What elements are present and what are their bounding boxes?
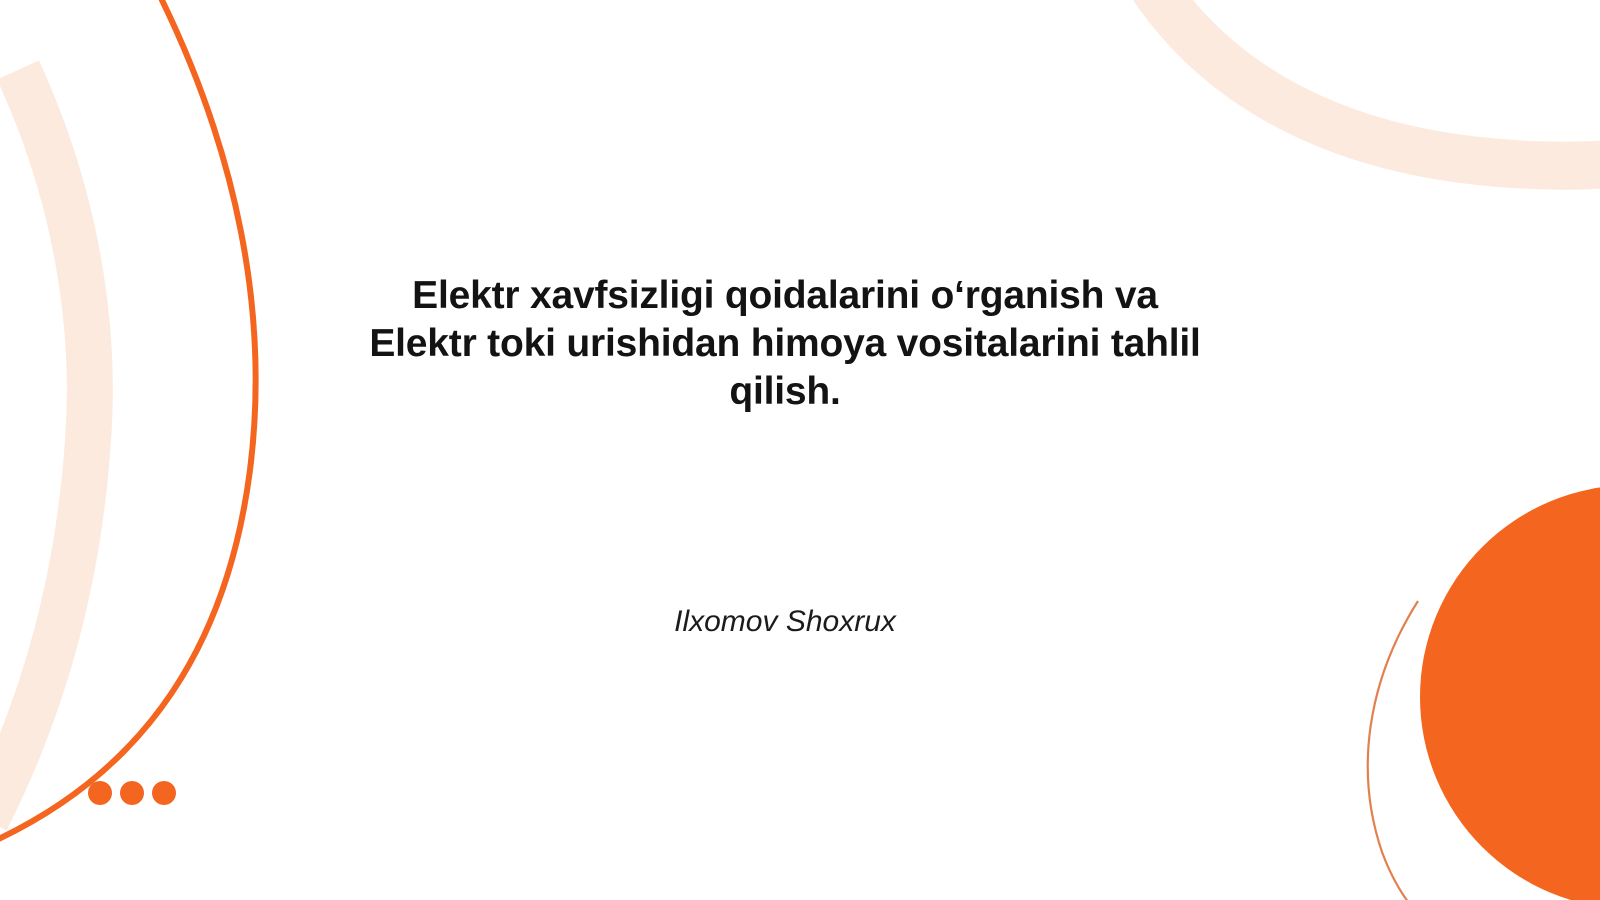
subtitle-block: Ilxomov Shoxrux — [300, 602, 1270, 642]
title-block: Elektr xavfsizligi qoidalarini oʻrganish… — [300, 272, 1270, 416]
slide-content: Elektr xavfsizligi qoidalarini oʻrganish… — [0, 0, 1600, 900]
presentation-slide: Elektr xavfsizligi qoidalarini oʻrganish… — [0, 0, 1600, 900]
page-title: Elektr xavfsizligi qoidalarini oʻrganish… — [300, 272, 1270, 416]
author-name: Ilxomov Shoxrux — [300, 602, 1270, 642]
